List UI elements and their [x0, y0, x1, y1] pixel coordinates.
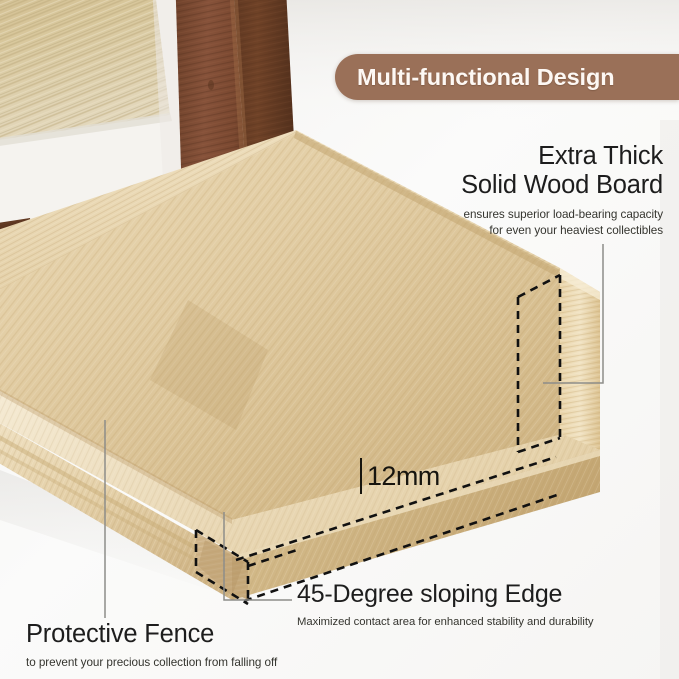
- callout-extra-thick-solid-wood-board: Extra Thick Solid Wood Board ensures sup…: [461, 142, 663, 238]
- dimension-tick-bar: [360, 458, 362, 494]
- callout-sloping-edge-title: 45-Degree sloping Edge: [297, 580, 594, 609]
- banner-multi-functional-design: Multi-functional Design: [335, 54, 679, 100]
- callout-45-degree-sloping-edge: 45-Degree sloping Edge Maximized contact…: [297, 580, 594, 631]
- product-feature-image: Multi-functional Design Extra Thick Soli…: [0, 0, 679, 679]
- dimension-thickness-label: 12mm: [360, 458, 440, 494]
- callout-protective-fence-title: Protective Fence: [26, 620, 277, 649]
- callout-protective-fence: Protective Fence to prevent your preciou…: [26, 620, 277, 671]
- dimension-value: 12mm: [367, 463, 440, 490]
- product-photo: [0, 0, 679, 679]
- banner-label: Multi-functional Design: [357, 64, 615, 91]
- callout-sloping-edge-sub: Maximized contact area for enhanced stab…: [297, 615, 594, 631]
- callout-extra-thick-title-line2: Solid Wood Board: [461, 171, 663, 200]
- callout-extra-thick-title-line1: Extra Thick: [461, 142, 663, 171]
- callout-extra-thick-sub-line1: ensures superior load-bearing capacity: [461, 207, 663, 223]
- callout-protective-fence-sub: to prevent your precious collection from…: [26, 655, 277, 671]
- callout-extra-thick-sub-line2: for even your heaviest collectibles: [461, 223, 663, 239]
